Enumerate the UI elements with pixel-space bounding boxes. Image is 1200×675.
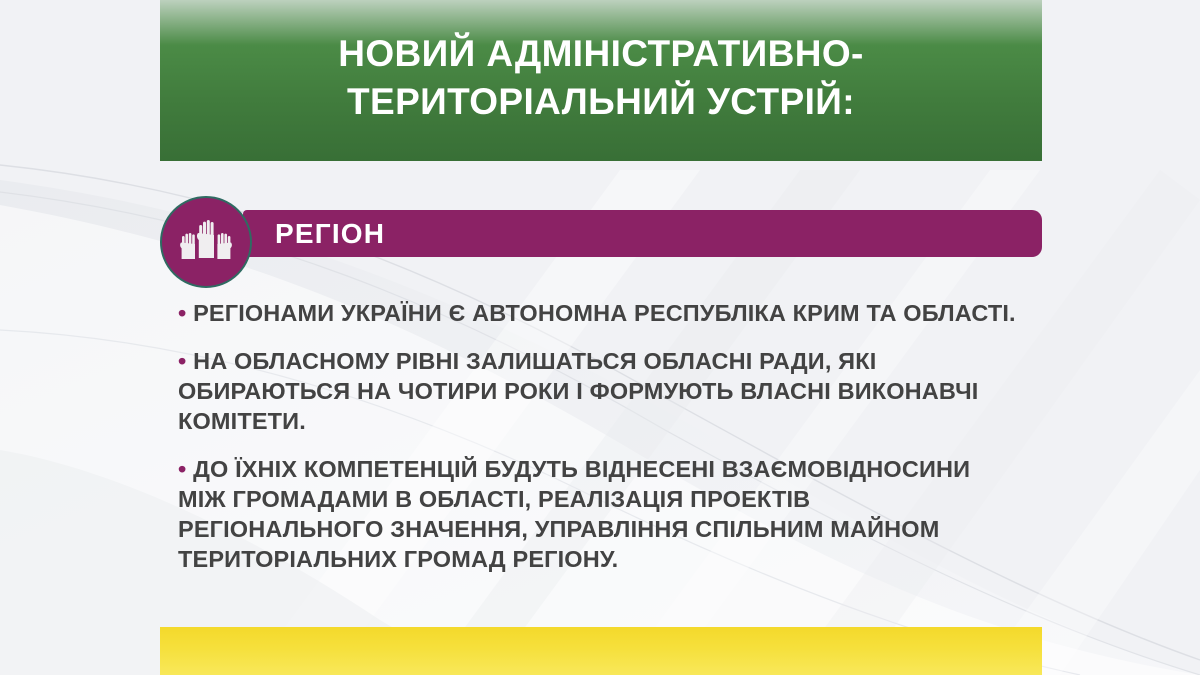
list-item: • ДО ЇХНІХ КОМПЕТЕНЦІЙ БУДУТЬ ВІДНЕСЕНІ … (178, 454, 1020, 574)
section-title: РЕГІОН (275, 210, 385, 257)
footer-accent-bar (160, 627, 1042, 675)
list-item: • НА ОБЛАСНОМУ РІВНІ ЗАЛИШАТЬСЯ ОБЛАСНІ … (178, 346, 1020, 436)
raised-hands-icon (177, 213, 235, 271)
list-item: • РЕГІОНАМИ УКРАЇНИ Є АВТОНОМНА РЕСПУБЛІ… (178, 298, 1020, 328)
title-banner: НОВИЙ АДМІНІСТРАТИВНО- ТЕРИТОРІАЛЬНИЙ УС… (160, 0, 1042, 161)
bullet-text: ДО ЇХНІХ КОМПЕТЕНЦІЙ БУДУТЬ ВІДНЕСЕНІ ВЗ… (178, 456, 970, 572)
presentation-slide: НОВИЙ АДМІНІСТРАТИВНО- ТЕРИТОРІАЛЬНИЙ УС… (0, 0, 1200, 675)
section-badge (160, 196, 252, 288)
bullet-list: • РЕГІОНАМИ УКРАЇНИ Є АВТОНОМНА РЕСПУБЛІ… (178, 298, 1020, 574)
page-title: НОВИЙ АДМІНІСТРАТИВНО- ТЕРИТОРІАЛЬНИЙ УС… (338, 30, 863, 125)
bullet-text: НА ОБЛАСНОМУ РІВНІ ЗАЛИШАТЬСЯ ОБЛАСНІ РА… (178, 348, 978, 434)
bullet-text: РЕГІОНАМИ УКРАЇНИ Є АВТОНОМНА РЕСПУБЛІКА… (186, 300, 1015, 326)
